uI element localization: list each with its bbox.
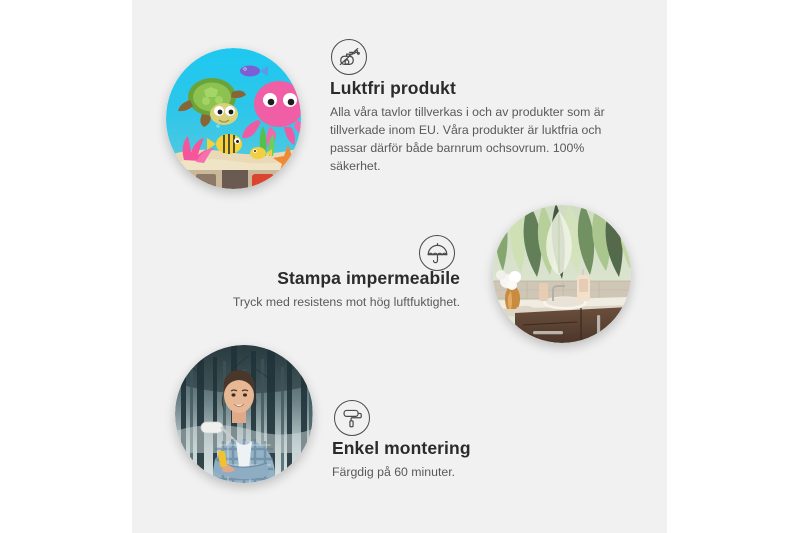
feature-body-easy-installation: Färgdig på 60 minuter. <box>332 464 622 482</box>
product-feature-infographic: Luktfri produkt Alla våra tavlor tillver… <box>0 0 800 533</box>
feature-title-waterproof-print: Stampa impermeabile <box>180 268 460 290</box>
feature-body-odour-free: Alla våra tavlor tillverkas i och av pro… <box>330 104 630 176</box>
paint-roller-icon <box>334 400 370 436</box>
no-odour-spray-bottle-icon <box>331 39 367 75</box>
umbrella-icon <box>419 235 455 271</box>
photo-bathroom-tropical-wallpaper <box>493 205 631 343</box>
feature-body-waterproof-print: Tryck med resistens mot hög luftfuktighe… <box>180 294 460 312</box>
feature-text-waterproof-print: Stampa impermeabile Tryck med resistens … <box>180 268 460 312</box>
feature-text-odour-free: Luktfri produkt Alla våra tavlor tillver… <box>330 78 630 176</box>
feature-text-easy-installation: Enkel montering Färgdig på 60 minuter. <box>332 438 622 482</box>
feature-title-easy-installation: Enkel montering <box>332 438 622 460</box>
feature-title-odour-free: Luktfri produkt <box>330 78 630 100</box>
photo-woman-paint-roller-forest <box>175 345 313 483</box>
photo-underwater-kids-mural <box>166 48 301 189</box>
